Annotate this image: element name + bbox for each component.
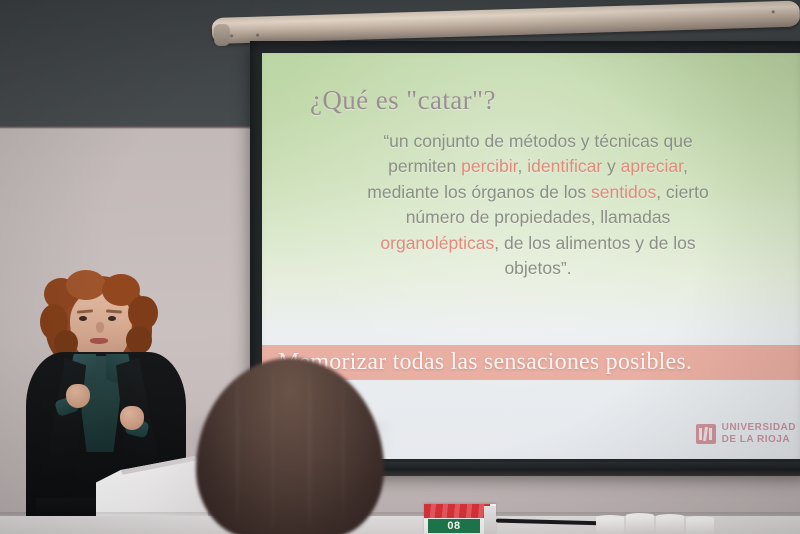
box-green-label: 08 bbox=[428, 519, 480, 533]
product-box: 08 bbox=[424, 504, 496, 534]
box-number: 08 bbox=[447, 520, 460, 532]
presenter-eye-left bbox=[79, 316, 87, 321]
wall-seam-line bbox=[0, 126, 258, 129]
cup bbox=[686, 517, 714, 534]
roller-bar-end-cap bbox=[214, 24, 231, 46]
cup bbox=[596, 516, 624, 534]
box-red-band bbox=[424, 504, 490, 518]
cup bbox=[656, 515, 684, 534]
lecture-room-photo: ¿Qué es "catar"? “un conjunto de métodos… bbox=[0, 0, 800, 534]
presenter-mouth bbox=[90, 338, 108, 344]
cup bbox=[626, 514, 654, 534]
presenter-nose bbox=[96, 322, 104, 333]
stacked-cups-group bbox=[596, 514, 716, 534]
presenter-hand-left bbox=[66, 384, 90, 408]
presenter-hand-right bbox=[120, 406, 144, 430]
box-side-panel bbox=[484, 506, 496, 534]
presenter-eye-right bbox=[108, 316, 116, 321]
